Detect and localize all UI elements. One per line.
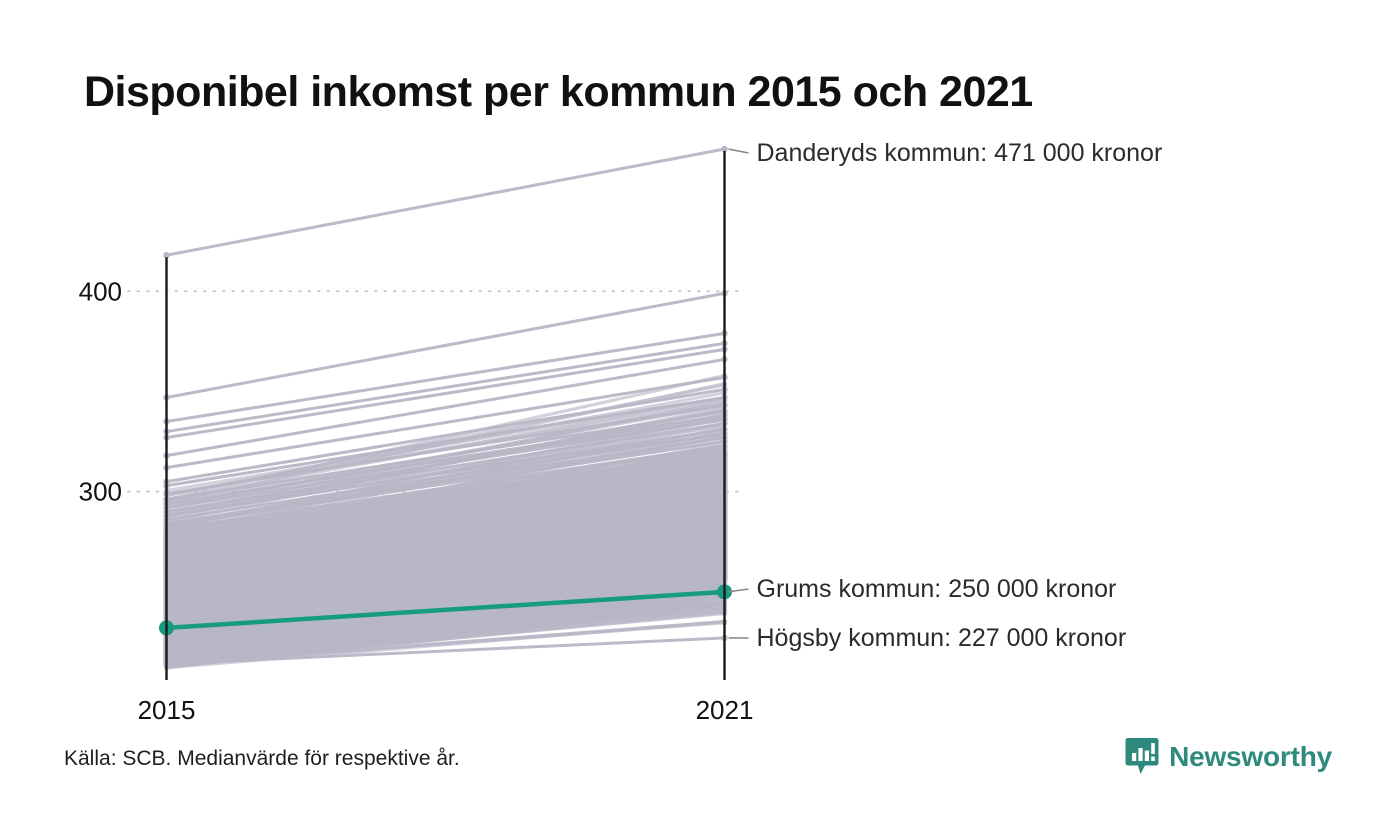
brand-logo: Newsworthy [1125,737,1332,777]
brand-name: Newsworthy [1169,741,1332,773]
source-note: Källa: SCB. Medianvärde för respektive å… [64,747,460,771]
annotations: Danderyds kommun: 471 000 kronorGrums ko… [729,139,1163,652]
slope-chart: Danderyds kommun: 471 000 kronorGrums ko… [0,0,1400,840]
x-tick-label: 2021 [696,695,754,725]
annotation-label: Danderyds kommun: 471 000 kronor [757,139,1163,167]
x-tick-label: 2015 [138,695,196,725]
bar-chart-bubble-icon [1125,737,1159,777]
chart-root: Disponibel inkomst per kommun 2015 och 2… [0,0,1400,840]
annotation-label: Högsby kommun: 227 000 kronor [757,624,1127,652]
annotation-leader-line [729,149,749,153]
y-tick-label: 300 [79,477,122,507]
slope-lines [163,146,727,671]
y-tick-label: 400 [79,276,122,306]
annotation-label: Grums kommun: 250 000 kronor [757,575,1117,603]
